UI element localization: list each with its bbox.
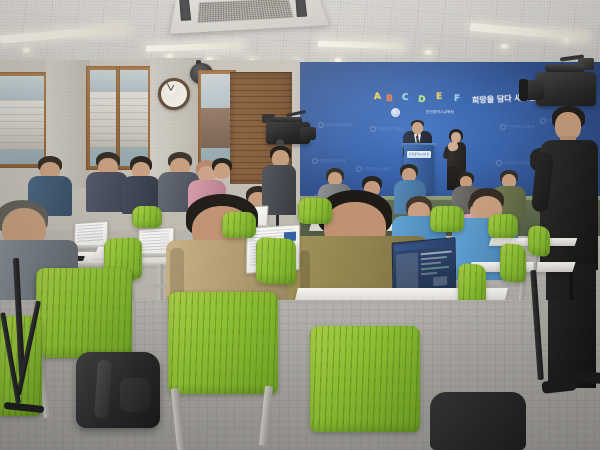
camera-right-lens-hood	[519, 79, 528, 101]
banner-glyph-2: B	[386, 94, 393, 104]
downlight-8	[500, 44, 509, 49]
banner-glyph-3: C	[402, 93, 409, 103]
speaker-head	[412, 122, 423, 134]
downlight-7	[424, 50, 433, 55]
cameraman-right-shoe-b	[574, 371, 600, 384]
podium-nameplate-label: 인천광역시교육청	[407, 151, 431, 158]
watermark-dot-icon	[356, 166, 362, 172]
banner-glyph-5: E	[436, 92, 443, 102]
chair-right-2-slats	[528, 225, 550, 257]
backdrop-watermark-1: 인천광역시교육청	[318, 122, 352, 128]
laptop-fg-titlebar	[395, 240, 453, 251]
camera-right-handle	[545, 64, 585, 72]
laptop-fg-panel	[433, 276, 447, 286]
window-view-sky-1	[0, 76, 44, 100]
backpack-2	[430, 392, 526, 450]
laptop-fg-row-2	[421, 256, 447, 260]
chair-back-row-2-slats	[430, 206, 464, 232]
chair-back-row-4-slats	[222, 212, 256, 238]
watermark-label: 인천광역시교육청	[364, 167, 391, 171]
interpreter-head	[451, 132, 461, 143]
chair-back-row-5-slats	[132, 206, 162, 228]
chair-foreground-left-top-slats	[36, 268, 132, 358]
laptop-1-content	[77, 224, 104, 243]
watermark-dot-icon	[318, 122, 324, 128]
backdrop-watermark-2: 인천광역시교육청	[370, 126, 404, 132]
downlight-1	[22, 48, 31, 53]
watermark-label: 인천광역시교육청	[326, 123, 353, 127]
backdrop-banner-calligraphy: A B C D E F 희망을 담다 새로운 교육	[374, 92, 514, 108]
window-view-brick-3	[201, 108, 233, 148]
watermark-dot-icon	[500, 124, 506, 130]
watermark-dot-icon	[496, 160, 502, 166]
laptop-screen-foreground[interactable]	[392, 237, 457, 295]
ac-vane-right	[295, 0, 307, 17]
laptop-fg-row-3	[421, 262, 441, 266]
banner-glyph-6: F	[454, 94, 461, 104]
laptop-fg-row-4	[421, 266, 449, 270]
backdrop-watermark-6: 인천광역시교육청	[356, 166, 390, 172]
watermark-dot-icon	[370, 126, 376, 132]
chair-right-1-slats	[500, 243, 526, 284]
banner-subtitle: 인천광역시교육청	[394, 108, 486, 117]
chair-foreground-right-top-slats	[310, 326, 420, 432]
audience-head-n	[214, 163, 230, 179]
watermark-label: 인천광역시교육청	[378, 127, 405, 131]
laptop-2-content	[141, 230, 170, 251]
camera-center-lens-icon	[300, 127, 316, 140]
watermark-dot-icon	[540, 118, 546, 124]
chair-back-row-1-slats	[298, 198, 332, 224]
backdrop-watermark-7: 인천광역시교육청	[496, 160, 530, 166]
video-camera-right	[536, 72, 596, 106]
chair-mid-1-slats	[256, 237, 296, 285]
laptop-fg-row-1	[421, 251, 452, 256]
chair-foreground-center-top-slats	[168, 292, 278, 394]
laptop-fg-sidebar	[396, 252, 419, 290]
backdrop-watermark-5: 인천광역시교육청	[312, 158, 346, 164]
window-view-lines-1	[0, 100, 44, 150]
watermark-label: 인천광역시교육청	[508, 125, 535, 129]
banner-glyph-1: A	[374, 92, 382, 102]
laptop-fg-row-5	[421, 272, 437, 275]
watermark-label: 인천광역시교육청	[320, 159, 347, 163]
watermark-dot-icon	[312, 158, 318, 164]
chair-back-row-3-slats	[488, 214, 518, 238]
backdrop-watermark-3: 인천광역시교육청	[500, 124, 534, 130]
backpack-1-pocket	[120, 378, 150, 412]
watermark-label: 인천광역시교육청	[504, 161, 531, 165]
downlight-9	[562, 38, 571, 43]
press-briefing-room-photo: 인천광역시교육청 인천광역시교육청 인천광역시교육청 인천광역시교육청 인천광역…	[0, 0, 600, 450]
banner-glyph-4: D	[418, 95, 426, 105]
